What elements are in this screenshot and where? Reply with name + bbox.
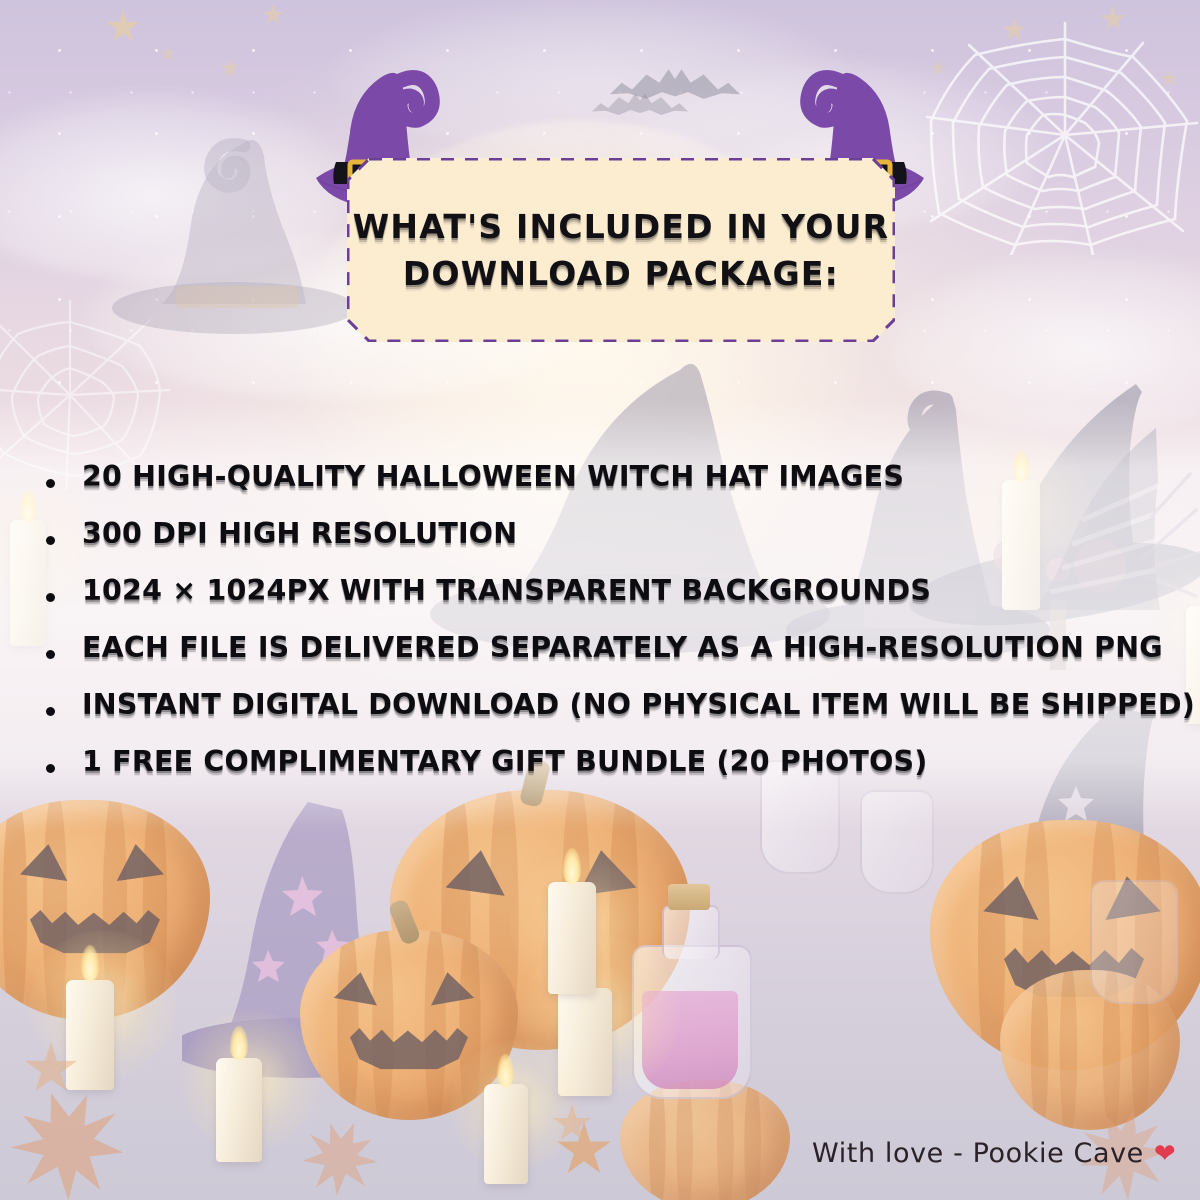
candle-flame-icon bbox=[230, 1026, 248, 1060]
footer-signature: With love - Pookie Cave ❤ bbox=[812, 1138, 1176, 1169]
candle-flame-icon bbox=[497, 1054, 514, 1087]
feature-text: 1 FREE COMPLIMENTARY GIFT BUNDLE (20 PHO… bbox=[82, 747, 927, 777]
candle-icon bbox=[484, 1084, 528, 1184]
banner-title-line-2: DOWNLOAD PACKAGE: bbox=[403, 257, 839, 290]
candle-flame-icon bbox=[563, 848, 581, 884]
bullet-icon bbox=[46, 650, 55, 659]
bullet-icon bbox=[46, 593, 55, 602]
feature-text: 1024 × 1024PX WITH TRANSPARENT BACKGROUN… bbox=[82, 576, 931, 606]
candle-flame-icon bbox=[81, 945, 99, 981]
features-list: 20 HIGH-QUALITY HALLOWEEN WITCH HAT IMAG… bbox=[46, 462, 1166, 804]
candle-icon bbox=[66, 980, 114, 1090]
bullet-icon bbox=[46, 479, 55, 488]
signature-text: With love - Pookie Cave bbox=[812, 1138, 1144, 1169]
candle-icon bbox=[548, 882, 596, 994]
candle-icon bbox=[216, 1058, 262, 1162]
heart-icon: ❤ bbox=[1154, 1141, 1176, 1167]
cork-icon bbox=[668, 884, 710, 910]
bullet-icon bbox=[46, 707, 55, 716]
feature-text: 20 HIGH-QUALITY HALLOWEEN WITCH HAT IMAG… bbox=[82, 462, 904, 492]
list-item: 20 HIGH-QUALITY HALLOWEEN WITCH HAT IMAG… bbox=[46, 462, 1166, 519]
bullet-icon bbox=[46, 764, 55, 773]
bullet-icon bbox=[46, 536, 55, 545]
potion-bottle-neck bbox=[662, 905, 720, 959]
banner-title-line-1: WHAT'S INCLUDED IN YOUR bbox=[353, 210, 889, 243]
product-listing-image: WHAT'S INCLUDED IN YOUR DOWNLOAD PACKAGE… bbox=[0, 0, 1200, 1200]
feature-text: 300 DPI HIGH RESOLUTION bbox=[82, 519, 517, 549]
list-item: EACH FILE IS DELIVERED SEPARATELY AS A H… bbox=[46, 633, 1166, 690]
list-item: 1024 × 1024PX WITH TRANSPARENT BACKGROUN… bbox=[46, 576, 1166, 633]
list-item: 1 FREE COMPLIMENTARY GIFT BUNDLE (20 PHO… bbox=[46, 747, 1166, 804]
feature-text: INSTANT DIGITAL DOWNLOAD (NO PHYSICAL IT… bbox=[82, 690, 1195, 720]
spiderweb-icon bbox=[925, 5, 1200, 255]
list-item: 300 DPI HIGH RESOLUTION bbox=[46, 519, 1166, 576]
banner-heading: WHAT'S INCLUDED IN YOUR DOWNLOAD PACKAGE… bbox=[347, 158, 895, 342]
feature-text: EACH FILE IS DELIVERED SEPARATELY AS A H… bbox=[82, 633, 1163, 663]
potion-bottle-icon bbox=[1090, 880, 1178, 1004]
maple-leaf-icon bbox=[0, 1074, 142, 1200]
list-item: INSTANT DIGITAL DOWNLOAD (NO PHYSICAL IT… bbox=[46, 690, 1166, 747]
